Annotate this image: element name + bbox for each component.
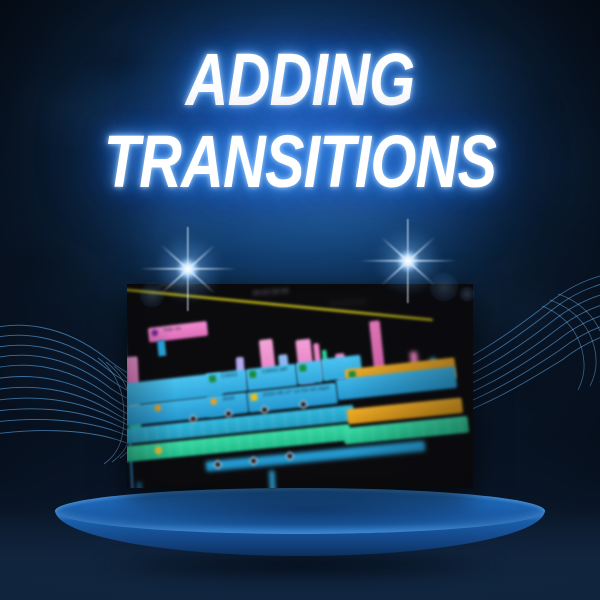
timecode-label: 00:02:00:00 <box>253 288 290 298</box>
effect-icon <box>151 329 158 336</box>
poster-canvas: ADDING TRANSITIONS <box>0 0 600 600</box>
title-line-1: ADDING <box>60 46 540 114</box>
clip-type-icon <box>249 370 256 378</box>
display-podium <box>55 488 545 572</box>
poster-title: ADDING TRANSITIONS <box>0 46 600 196</box>
title-line-2: TRANSITIONS <box>60 128 540 196</box>
clip-label: C0003 <box>221 371 238 379</box>
video-editing-timeline-screenshot[interactable]: 00:01:00:00 00:02:00:00 00:03:00:00 Titl… <box>127 284 473 488</box>
clip-type-icon <box>209 375 216 383</box>
video-clip[interactable] <box>295 360 323 385</box>
clip-label: 3020 <box>222 395 235 402</box>
timecode-label: 00:03:00:00 <box>329 299 367 309</box>
timecode-label: 00:01:00:00 <box>159 284 194 288</box>
podium-rim <box>55 488 545 534</box>
clip-label: C0004.MP <box>261 366 288 375</box>
clip-label: Title 01 <box>163 325 182 333</box>
title-clip-connector <box>157 340 166 357</box>
clip-type-icon <box>299 364 307 372</box>
track-marker <box>136 482 142 488</box>
timeline-content: 00:01:00:00 00:02:00:00 00:03:00:00 Titl… <box>127 284 473 488</box>
keyframe-icon <box>154 404 161 411</box>
keyframe-icon <box>250 393 257 401</box>
keyframe-icon <box>210 398 217 406</box>
title-clip[interactable]: Title 01 <box>148 321 208 343</box>
playhead-handle[interactable] <box>269 471 276 488</box>
video-clip[interactable]: C0003 <box>205 369 247 395</box>
